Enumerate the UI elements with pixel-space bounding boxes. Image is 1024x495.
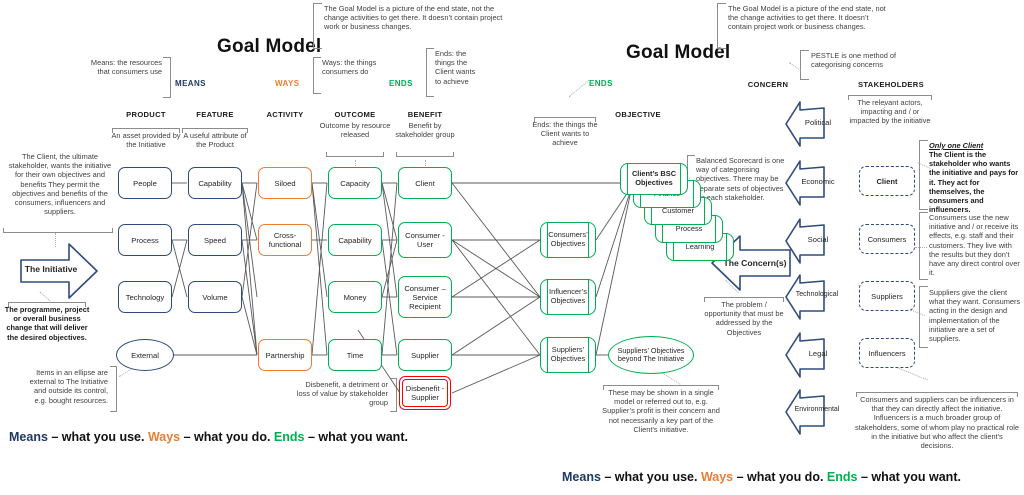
outcome-desc: Outcome by resource released: [319, 121, 391, 139]
node-disbenefit-supplier[interactable]: Disbenefit - Supplier: [399, 376, 451, 410]
ellipse-note-bracket: [110, 366, 117, 412]
node-client-bsc-objectives[interactable]: Client’s BSC Objectives: [620, 163, 688, 195]
node-people[interactable]: People: [118, 167, 172, 199]
footer-ways-word: Ways: [148, 430, 180, 444]
node-capacity[interactable]: Capacity: [328, 167, 382, 199]
left-client-dotted: [55, 233, 57, 247]
node-supplier-benefit[interactable]: Supplier: [398, 339, 452, 371]
ends-col-bracket: [534, 117, 596, 122]
concern-legal-label[interactable]: Legal: [798, 349, 838, 358]
right-footer-ends-rest: – what you want.: [857, 470, 961, 484]
footer-ways-rest: – what you do.: [180, 430, 274, 444]
concern-economic-label[interactable]: Economic: [798, 177, 838, 186]
column-header-outcome: OUTCOME: [319, 110, 391, 119]
left-client-note: The Client, the ultimate stakeholder, wa…: [6, 152, 114, 216]
left-client-note-bracket: [3, 228, 113, 233]
concern-political-label[interactable]: Political: [798, 118, 838, 127]
node-client-benefit[interactable]: Client: [398, 167, 452, 199]
suppliers-note-bracket: [919, 286, 928, 348]
concern-dotted: [725, 280, 739, 293]
node-stakeholder-suppliers[interactable]: Suppliers: [859, 281, 915, 311]
footer-ends-word: Ends: [274, 430, 305, 444]
influencers-objectives-label: Influencer’s Objectives: [540, 279, 596, 315]
right-goalmodel-note: The Goal Model is a picture of the end s…: [728, 4, 888, 32]
benefit-desc: Benefit by stakeholder group: [389, 121, 461, 139]
outcome-bracket: [326, 152, 384, 157]
concern-technological-label[interactable]: Technological: [788, 291, 846, 298]
node-stakeholder-influencers[interactable]: Influencers: [859, 338, 915, 368]
ways-bracket-note: Ways: the things consumers do: [322, 58, 384, 76]
node-cross-functional[interactable]: Cross-functional: [258, 224, 312, 256]
right-footer-ends-word: Ends: [827, 470, 858, 484]
suppliers-note: Suppliers give the client what they want…: [929, 288, 1021, 343]
node-partnership[interactable]: Partnership: [258, 339, 312, 371]
pestle-note: PESTLE is one method of categorising con…: [811, 51, 915, 69]
product-desc: An asset provided by the Initiative: [110, 131, 182, 149]
node-speed[interactable]: Speed: [188, 224, 242, 256]
right-client-note-heading: Only one Client: [929, 141, 1019, 150]
node-technology[interactable]: Technology: [118, 281, 172, 313]
node-capability-feature[interactable]: Capability: [188, 167, 242, 199]
node-suppliers-objectives-beyond[interactable]: Suppliers’ Objectives beyond The Initiat…: [608, 336, 694, 374]
ends-bracket: [426, 48, 434, 97]
right-goalmodel-note-bracket: [717, 3, 726, 49]
left-title: Goal Model: [217, 36, 321, 58]
influencers-note: Consumers and suppliers can be influence…: [854, 395, 1020, 450]
concern-environmental-label[interactable]: Environmental: [784, 406, 850, 413]
node-stakeholder-consumers[interactable]: Consumers: [859, 224, 915, 254]
node-consumer-user[interactable]: Consumer - User: [398, 222, 452, 258]
ends-col-dotted: [569, 80, 590, 97]
right-footer-means-rest: – what you use.: [601, 470, 701, 484]
concern-note: The problem / opportunity that must be a…: [702, 300, 786, 337]
node-money[interactable]: Money: [328, 281, 382, 313]
suppliers-beyond-dotted: [661, 372, 680, 385]
feature-bracket: [182, 128, 248, 133]
node-influencers-objectives[interactable]: Influencer’s Objectives: [540, 279, 596, 315]
right-footer: Means – what you use. Ways – what you do…: [562, 470, 961, 484]
initiative-arrow-label: The Initiative: [18, 264, 84, 274]
ellipse-dotted: [119, 368, 133, 377]
footer-ends-rest: – what you want.: [304, 430, 408, 444]
node-capability-outcome[interactable]: Capability: [328, 224, 382, 256]
right-footer-ways-word: Ways: [701, 470, 733, 484]
stakeholders-note: The relevant actors, impacting and / or …: [848, 98, 932, 126]
band-label-ways: WAYS: [275, 79, 299, 88]
initiative-note: The programme, project or overall busine…: [4, 305, 90, 342]
feature-desc: A useful attribute of the Product: [180, 131, 250, 149]
right-title: Goal Model: [626, 42, 730, 64]
column-header-product: PRODUCT: [110, 110, 182, 119]
benefit-bracket: [396, 152, 454, 157]
initiative-dotted: [39, 291, 50, 301]
band-label-means: MEANS: [175, 79, 206, 88]
ends-bracket-note: Ends: the things the Client wants to ach…: [435, 49, 483, 86]
column-header-concern: CONCERN: [740, 80, 796, 89]
footer-means-rest: – what you use.: [48, 430, 148, 444]
means-bracket: [163, 57, 171, 98]
suppliers-beyond-note: These may be shown in a single model or …: [600, 388, 722, 434]
left-footer: Means – what you use. Ways – what you do…: [9, 430, 408, 444]
column-header-activity: ACTIVITY: [249, 110, 321, 119]
node-consumers-objectives[interactable]: Consumers’ Objectives: [540, 222, 596, 258]
concern-social-label[interactable]: Social: [798, 235, 838, 244]
node-consumer-service-recipient[interactable]: Consumer – Service Recipient: [398, 276, 452, 318]
left-goalmodel-note: The Goal Model is a picture of the end s…: [324, 4, 514, 32]
left-goalmodel-note-bracket: [313, 3, 322, 49]
footer-means-word: Means: [9, 430, 48, 444]
ends-col-desc: Ends: the things the Client wants to ach…: [529, 120, 601, 148]
means-bracket-note: Means: the resources that consumers use: [88, 58, 162, 76]
pestle-note-bracket: [800, 50, 809, 80]
consumers-objectives-label: Consumers’ Objectives: [540, 222, 596, 258]
node-suppliers-objectives[interactable]: Suppliers’ Objectives: [540, 337, 596, 373]
right-client-note-bracket: [919, 140, 928, 210]
node-siloed[interactable]: Siloed: [258, 167, 312, 199]
ways-bracket: [313, 57, 321, 94]
consumers-dotted: [915, 247, 927, 248]
node-time[interactable]: Time: [328, 339, 382, 371]
column-header-objective: OBJECTIVE: [602, 110, 674, 119]
client-bsc-objectives-label: Client’s BSC Objectives: [620, 163, 688, 195]
bsc-note: Balanced Scorecard is one way of categor…: [696, 156, 788, 202]
product-bracket: [112, 128, 180, 133]
node-external[interactable]: External: [116, 339, 174, 371]
stakeholders-dotted: [884, 104, 886, 114]
consumers-note-bracket: [919, 212, 928, 280]
disbenefit-bracket: [390, 378, 397, 412]
column-header-stakeholders: STAKEHOLDERS: [848, 80, 934, 89]
node-volume[interactable]: Volume: [188, 281, 242, 313]
consumers-note: Consumers use the new initiative and / o…: [929, 213, 1021, 277]
right-client-note: The Client is the stakeholder who wants …: [929, 150, 1019, 214]
suppliers-objectives-label: Suppliers’ Objectives: [540, 337, 596, 373]
column-header-feature: FEATURE: [180, 110, 250, 119]
right-footer-ways-rest: – what you do.: [733, 470, 827, 484]
band-label-ends-2: ENDS: [589, 79, 613, 88]
ellipse-note: Items in an ellipse are external to The …: [24, 368, 108, 405]
node-process[interactable]: Process: [118, 224, 172, 256]
column-header-benefit: BENEFIT: [389, 110, 461, 119]
band-label-ends-1: ENDS: [389, 79, 413, 88]
node-stakeholder-client[interactable]: Client: [859, 166, 915, 196]
disbenefit-note: Disbenefit, a detriment or loss of value…: [296, 380, 388, 408]
right-footer-means-word: Means: [562, 470, 601, 484]
